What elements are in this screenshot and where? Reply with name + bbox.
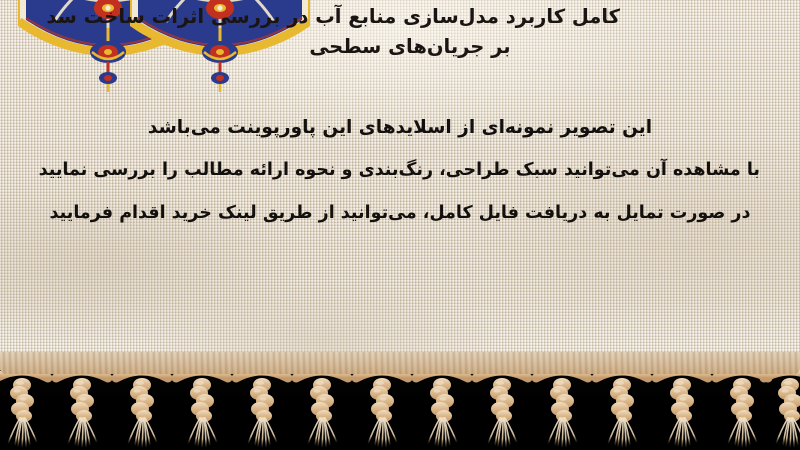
slide-body-line-3: در صورت تمایل به دریافت فایل کامل، می‌تو… — [40, 192, 760, 235]
slide-title: کامل کاربرد مدل‌سازی منابع آب در بررسی ا… — [200, 2, 620, 62]
slide-canvas: کامل کاربرد مدل‌سازی منابع آب در بررسی ا… — [0, 0, 800, 450]
slide-title-line-1: کامل کاربرد مدل‌سازی منابع آب در بررسی ا… — [200, 2, 620, 32]
slide-title-line-2: بر جریان‌های سطحی — [200, 32, 620, 62]
slide-body: این تصویر نمونه‌ای از اسلایدهای این پاور… — [40, 106, 760, 235]
fringe-rail — [0, 352, 800, 374]
slide-body-line-1: این تصویر نمونه‌ای از اسلایدهای این پاور… — [40, 106, 760, 149]
bottom-fringe — [0, 352, 800, 450]
slide-body-line-2: با مشاهده آن می‌توانید سبک طراحی، رنگ‌بن… — [40, 149, 760, 192]
